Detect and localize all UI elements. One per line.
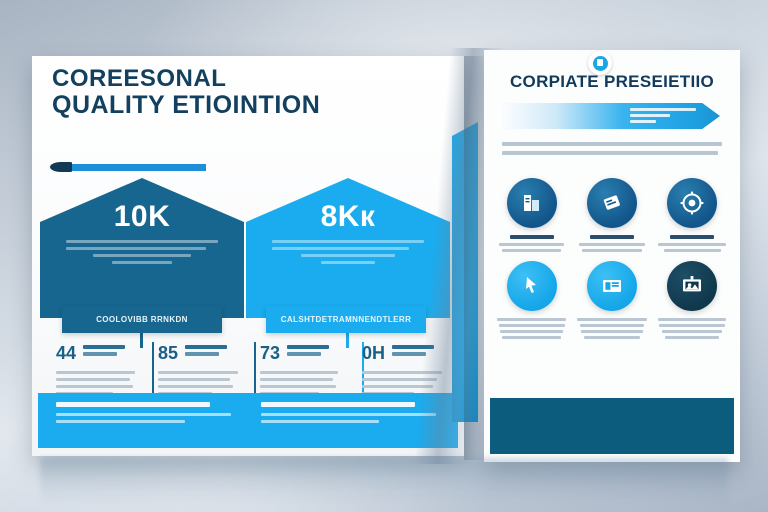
feature-heading (510, 235, 554, 239)
right-page-footer (490, 398, 734, 454)
scene: COREESONAL QUALITY ETIOINTION 10K 8Kк (0, 0, 768, 512)
stat-item[interactable]: 73 (250, 344, 352, 399)
cursor-hand-icon (507, 261, 557, 311)
presentation-board-icon (667, 261, 717, 311)
stat-number: 0H (362, 344, 385, 362)
stat-body (158, 371, 240, 395)
right-page-title: CORPIATE PRESEIETIIO (484, 72, 740, 92)
left-page-title: COREESONAL QUALITY ETIOINTION (52, 66, 382, 118)
feature-item[interactable] (494, 178, 569, 255)
feature-heading (590, 235, 634, 239)
surface-reflection (40, 458, 728, 506)
document-chart-icon (507, 178, 557, 228)
title-line-1: COREESONAL (52, 66, 382, 92)
stat-body (260, 371, 342, 395)
stat-number: 73 (260, 344, 280, 362)
mobile-card-icon (587, 178, 637, 228)
feature-item[interactable] (655, 178, 730, 255)
chevron-2-detail (272, 240, 424, 268)
stat-number: 44 (56, 344, 76, 362)
gear-compass-icon (667, 178, 717, 228)
stat-label (83, 344, 125, 359)
fold-shadow (464, 56, 486, 460)
left-page[interactable]: COREESONAL QUALITY ETIOINTION 10K 8Kк (32, 56, 464, 456)
camera-badge-icon (588, 51, 612, 75)
feature-item[interactable] (574, 178, 649, 255)
stat-label (392, 344, 434, 359)
right-page-intro (502, 142, 722, 160)
footer-column-2 (261, 402, 440, 439)
feature-icon-grid (494, 178, 730, 342)
left-page-footer (38, 393, 458, 448)
right-page[interactable]: CORPIATE PRESEIETIIO (484, 50, 740, 462)
ribbon-banner (498, 103, 720, 129)
title-underline (54, 164, 206, 171)
feature-heading (670, 235, 714, 239)
title-underline-cap (50, 162, 72, 172)
cta-button-1[interactable]: COOLOVIBB RRNKDN (62, 306, 222, 333)
feature-item[interactable] (655, 261, 730, 342)
stat-label (287, 344, 329, 359)
chevron-1-detail (66, 240, 218, 268)
stat-body (362, 371, 444, 395)
ribbon-text-lines (630, 108, 696, 126)
stat-row: 44 85 (46, 344, 454, 399)
title-line-2: QUALITY ETIOINTION (52, 92, 382, 118)
footer-column-1 (56, 402, 235, 439)
stat-label (185, 344, 227, 359)
feature-item[interactable] (494, 261, 569, 342)
stat-item[interactable]: 0H (352, 344, 454, 399)
stat-item[interactable]: 85 (148, 344, 250, 399)
monitor-screen-icon (587, 261, 637, 311)
cta-button-2[interactable]: CALSHTDETRAMNNENDTLERR (266, 306, 426, 333)
stat-body (56, 371, 138, 395)
feature-item[interactable] (574, 261, 649, 342)
stat-number: 85 (158, 344, 178, 362)
stat-item[interactable]: 44 (46, 344, 148, 399)
